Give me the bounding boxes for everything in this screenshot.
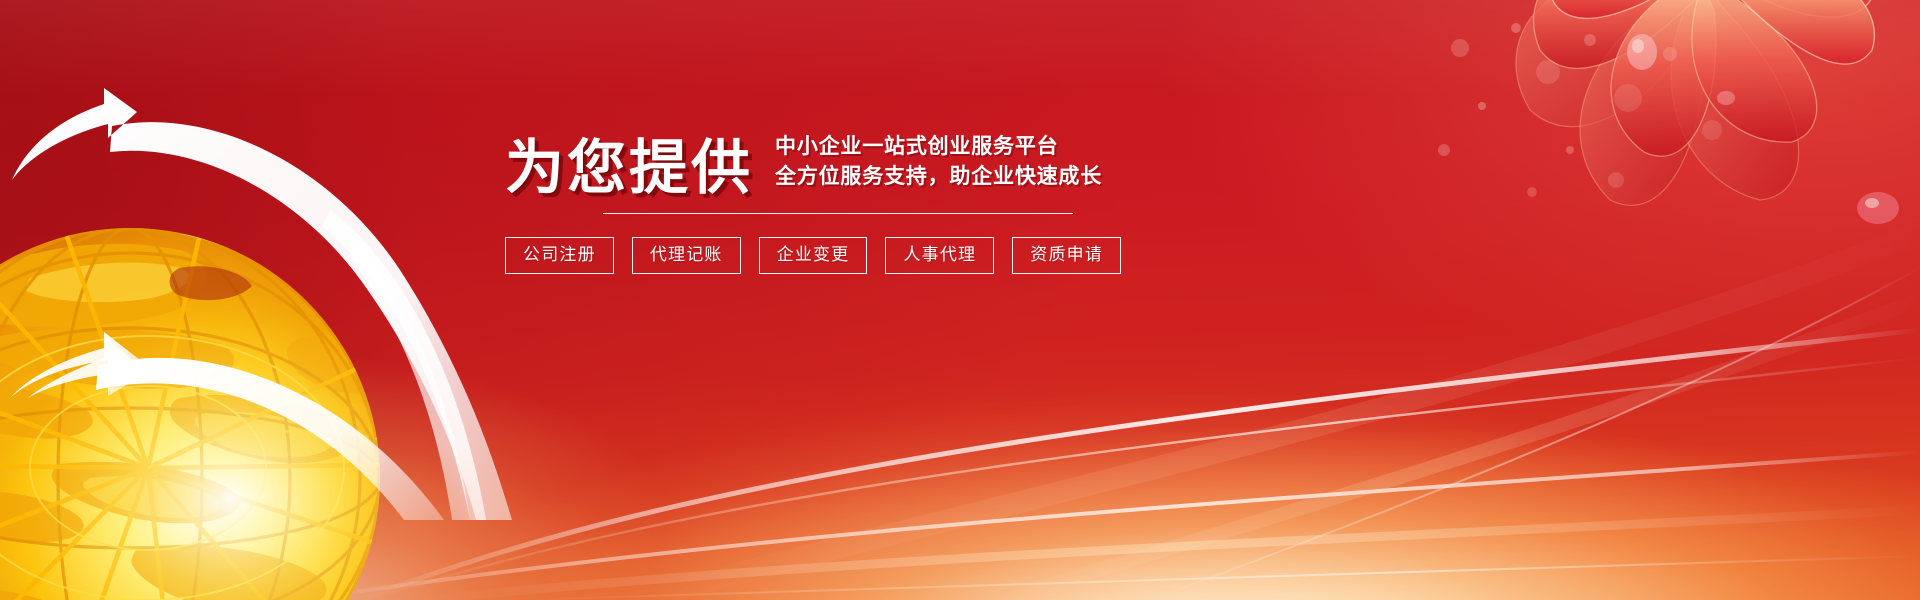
service-button-company-registration[interactable]: 公司注册 bbox=[505, 237, 614, 274]
light-streak-icon bbox=[0, 0, 1920, 600]
promotional-banner: 为您提供 中小企业一站式创业服务平台 全方位服务支持，助企业快速成长 公司注册 … bbox=[0, 0, 1920, 600]
service-button-qualification-application[interactable]: 资质申请 bbox=[1012, 237, 1121, 274]
subtitle-line-1: 中小企业一站式创业服务平台 bbox=[775, 132, 1102, 162]
bokeh-dots-icon bbox=[1420, 10, 1760, 230]
service-button-bookkeeping-agency[interactable]: 代理记账 bbox=[632, 237, 741, 274]
subtitle-line-2: 全方位服务支持，助企业快速成长 bbox=[775, 162, 1102, 192]
service-button-enterprise-change[interactable]: 企业变更 bbox=[759, 237, 868, 274]
curved-arrow-icon bbox=[0, 60, 560, 520]
background-sheen bbox=[0, 0, 1920, 600]
service-button-hr-agency[interactable]: 人事代理 bbox=[885, 237, 994, 274]
divider bbox=[603, 213, 1073, 214]
page-title: 为您提供 bbox=[505, 137, 753, 198]
subtitle-block: 中小企业一站式创业服务平台 全方位服务支持，助企业快速成长 bbox=[775, 132, 1102, 199]
flower-icon bbox=[1400, 0, 1920, 290]
banner-content: 为您提供 中小企业一站式创业服务平台 全方位服务支持，助企业快速成长 公司注册 … bbox=[505, 132, 1105, 274]
headline-row: 为您提供 中小企业一站式创业服务平台 全方位服务支持，助企业快速成长 bbox=[505, 132, 1105, 199]
globe-icon bbox=[0, 228, 500, 600]
service-button-row: 公司注册 代理记账 企业变更 人事代理 资质申请 bbox=[505, 237, 1105, 274]
